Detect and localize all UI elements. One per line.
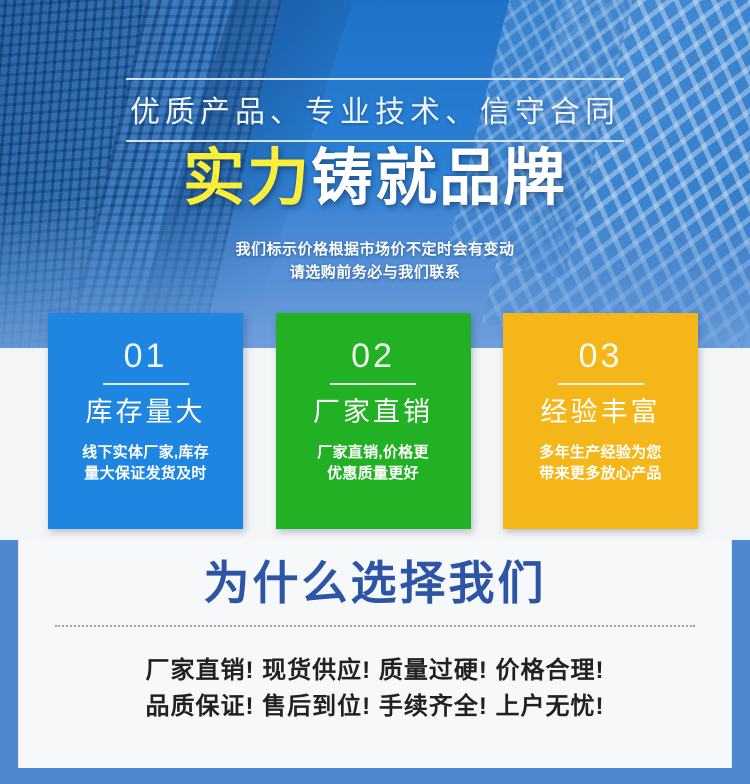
feature-cards: 01 库存量大 线下实体厂家,库存 量大保证发货及时 02 厂家直销 厂家直销,… bbox=[48, 313, 698, 529]
feature-card-1[interactable]: 01 库存量大 线下实体厂家,库存 量大保证发货及时 bbox=[48, 313, 243, 529]
card-divider bbox=[103, 383, 189, 385]
footer-bar bbox=[0, 768, 750, 784]
card-number: 02 bbox=[276, 339, 471, 373]
panel-rail-right bbox=[732, 540, 750, 768]
headline-emphasis: 实力 bbox=[183, 144, 311, 213]
main-headline: 实力铸就品牌 bbox=[0, 146, 750, 211]
card-title: 厂家直销 bbox=[276, 398, 471, 428]
why-choose-us-panel: 为什么选择我们 厂家直销! 现货供应! 质量过硬! 价格合理! 品质保证! 售后… bbox=[18, 540, 732, 768]
card-description-line-2: 带来更多放心产品 bbox=[513, 463, 688, 485]
slogan-line-2: 品质保证! 售后到位! 手续齐全! 上户无忧! bbox=[19, 689, 731, 725]
subtitle-line-2: 请选购前务必与我们联系 bbox=[0, 261, 750, 284]
card-description: 厂家直销,价格更 优惠质量更好 bbox=[276, 442, 471, 486]
why-choose-us-title: 为什么选择我们 bbox=[19, 558, 731, 609]
card-description: 多年生产经验为您 带来更多放心产品 bbox=[503, 442, 698, 486]
card-title: 经验丰富 bbox=[503, 398, 698, 428]
card-description-line-2: 优惠质量更好 bbox=[286, 463, 461, 485]
card-divider bbox=[330, 383, 416, 385]
card-description-line-1: 线下实体厂家,库存 bbox=[58, 442, 233, 464]
card-description-line-1: 厂家直销,价格更 bbox=[286, 442, 461, 464]
panel-rail-left bbox=[0, 540, 18, 768]
feature-card-2[interactable]: 02 厂家直销 厂家直销,价格更 优惠质量更好 bbox=[276, 313, 471, 529]
card-description-line-2: 量大保证发货及时 bbox=[58, 463, 233, 485]
slogan-list: 厂家直销! 现货供应! 质量过硬! 价格合理! 品质保证! 售后到位! 手续齐全… bbox=[19, 653, 731, 725]
card-description: 线下实体厂家,库存 量大保证发货及时 bbox=[48, 442, 243, 486]
card-description-line-1: 多年生产经验为您 bbox=[513, 442, 688, 464]
feature-card-3[interactable]: 03 经验丰富 多年生产经验为您 带来更多放心产品 bbox=[503, 313, 698, 529]
headline-remainder: 铸就品牌 bbox=[311, 144, 567, 213]
tagline-container: 优质产品、专业技术、信守合同 bbox=[0, 78, 750, 142]
tagline-text: 优质产品、专业技术、信守合同 bbox=[126, 78, 624, 142]
slogan-line-1: 厂家直销! 现货供应! 质量过硬! 价格合理! bbox=[19, 653, 731, 689]
hero-subtitle: 我们标示价格根据市场价不定时会有变动 请选购前务必与我们联系 bbox=[0, 238, 750, 285]
card-title: 库存量大 bbox=[48, 398, 243, 428]
card-divider bbox=[558, 383, 644, 385]
dotted-divider bbox=[55, 625, 695, 627]
card-number: 01 bbox=[48, 339, 243, 373]
promo-banner: 优质产品、专业技术、信守合同 实力铸就品牌 我们标示价格根据市场价不定时会有变动… bbox=[0, 0, 750, 784]
card-number: 03 bbox=[503, 339, 698, 373]
subtitle-line-1: 我们标示价格根据市场价不定时会有变动 bbox=[0, 238, 750, 261]
